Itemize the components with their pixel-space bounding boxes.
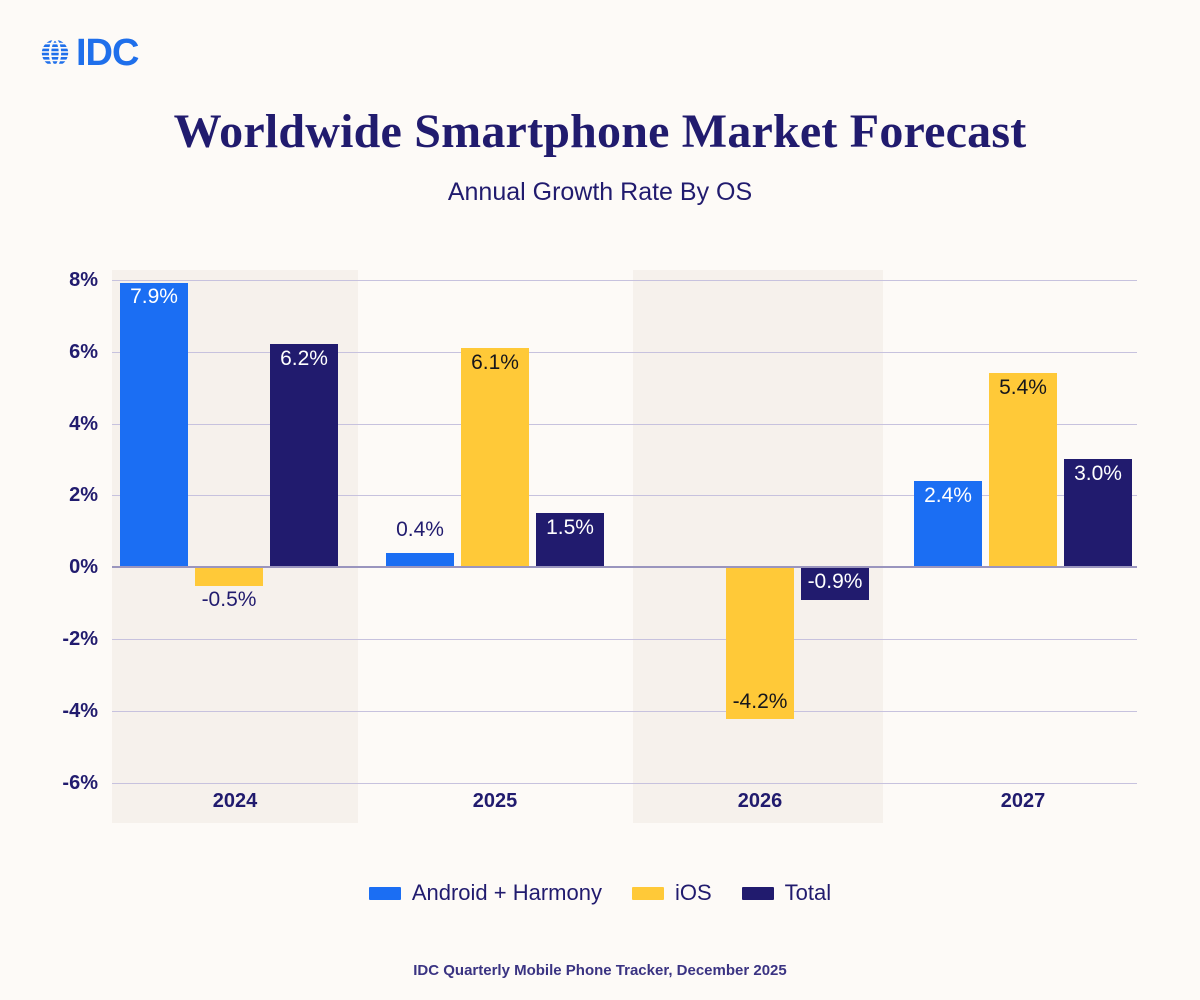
- bar-2024-total[interactable]: [270, 344, 338, 567]
- chart-legend: Android + Harmony iOS Total: [0, 880, 1200, 906]
- bar-label-2027-android: 2.4%: [914, 484, 982, 508]
- bar-2024-android[interactable]: [120, 283, 188, 567]
- bar-label-2026-total: -0.9%: [796, 570, 874, 594]
- gridline-6: [112, 352, 1137, 353]
- gridline-4: [112, 424, 1137, 425]
- bar-label-2025-android: 0.4%: [371, 518, 469, 542]
- x-tick-2025: 2025: [372, 790, 618, 813]
- y-tick-2: 2%: [20, 484, 98, 507]
- bar-2027-ios[interactable]: [989, 373, 1057, 567]
- gridline-2: [112, 495, 1137, 496]
- y-tick-8: 8%: [20, 269, 98, 292]
- gridline-neg6: [112, 783, 1137, 784]
- y-tick-4: 4%: [20, 413, 98, 436]
- bar-label-2025-total: 1.5%: [536, 516, 604, 540]
- y-tick-0: 0%: [20, 556, 98, 579]
- legend-label-ios: iOS: [675, 880, 712, 906]
- x-tick-2027: 2027: [900, 790, 1146, 813]
- legend-item-ios[interactable]: iOS: [632, 880, 712, 906]
- bar-label-2025-ios: 6.1%: [461, 351, 529, 375]
- legend-label-android: Android + Harmony: [412, 880, 602, 906]
- legend-label-total: Total: [785, 880, 831, 906]
- y-tick-6: 6%: [20, 341, 98, 364]
- x-tick-2024: 2024: [112, 790, 358, 813]
- source-footnote: IDC Quarterly Mobile Phone Tracker, Dece…: [0, 962, 1200, 979]
- y-tick-neg6: -6%: [20, 772, 98, 795]
- bar-label-2024-ios: -0.5%: [180, 588, 278, 612]
- bar-2025-android[interactable]: [386, 553, 454, 567]
- bar-2024-ios[interactable]: [195, 568, 263, 586]
- bar-label-2024-android: 7.9%: [120, 285, 188, 309]
- bar-chart: 8% 6% 4% 2% 0% -2% -4% -6% 7.9% -0.5% 6.…: [0, 0, 1200, 1000]
- legend-swatch-android-icon: [369, 887, 401, 900]
- legend-swatch-total-icon: [742, 887, 774, 900]
- bar-label-2027-ios: 5.4%: [989, 376, 1057, 400]
- y-tick-neg4: -4%: [20, 700, 98, 723]
- gridline-neg4: [112, 711, 1137, 712]
- gridline-8: [112, 280, 1137, 281]
- bar-label-2026-ios: -4.2%: [726, 690, 794, 714]
- legend-item-android[interactable]: Android + Harmony: [369, 880, 602, 906]
- zero-baseline: [112, 566, 1137, 568]
- y-tick-neg2: -2%: [20, 628, 98, 651]
- x-tick-2026: 2026: [637, 790, 883, 813]
- gridline-neg2: [112, 639, 1137, 640]
- legend-item-total[interactable]: Total: [742, 880, 831, 906]
- bar-label-2024-total: 6.2%: [270, 347, 338, 371]
- bar-2025-ios[interactable]: [461, 348, 529, 567]
- legend-swatch-ios-icon: [632, 887, 664, 900]
- bar-label-2027-total: 3.0%: [1064, 462, 1132, 486]
